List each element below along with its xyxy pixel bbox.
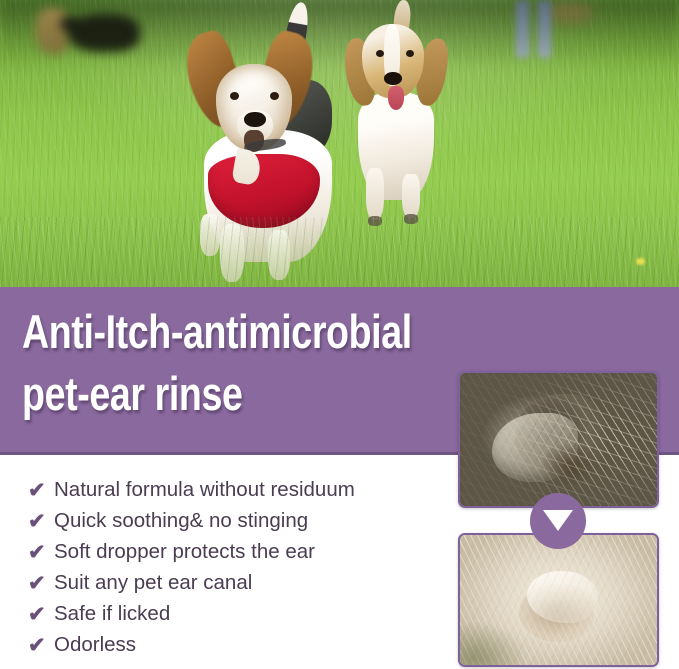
check-icon: ✔ <box>28 604 54 625</box>
rear-beagle-tongue <box>388 86 404 110</box>
check-icon: ✔ <box>28 511 54 532</box>
headline-line-2: pet-ear rinse <box>22 363 502 425</box>
rear-beagle-leg-right <box>402 174 420 218</box>
dandelion-flower <box>636 258 645 265</box>
benefits-list: ✔ Natural formula without residuum ✔ Qui… <box>0 455 460 669</box>
benefit-label: Odorless <box>54 635 136 656</box>
background-person-legs <box>516 0 558 58</box>
foreground-grass <box>0 217 679 287</box>
arrow-down-triangle <box>543 510 573 531</box>
check-icon: ✔ <box>28 542 54 563</box>
beagle-nose <box>244 112 266 127</box>
benefit-item: ✔ Suit any pet ear canal <box>28 568 252 598</box>
benefit-label: Quick soothing& no stinging <box>54 511 308 532</box>
ear-fur <box>460 373 657 506</box>
rear-beagle <box>340 4 470 244</box>
benefit-label: Soft dropper protects the ear <box>54 542 315 563</box>
benefit-item: ✔ Natural formula without residuum <box>28 475 355 505</box>
ear-photo-after <box>458 533 659 667</box>
rear-beagle-eye-right <box>406 50 414 57</box>
benefit-item: ✔ Odorless <box>28 630 136 660</box>
benefit-label: Safe if licked <box>54 604 170 625</box>
product-feature-poster: Anti-Itch-antimicrobial pet-ear rinse ✔ … <box>0 0 679 669</box>
product-headline: Anti-Itch-antimicrobial pet-ear rinse <box>22 301 502 425</box>
beagle-eye-left <box>230 92 239 100</box>
beagle-eye-right <box>270 92 279 100</box>
check-icon: ✔ <box>28 480 54 501</box>
background-dog-dark <box>68 14 140 52</box>
check-icon: ✔ <box>28 573 54 594</box>
benefit-item: ✔ Safe if licked <box>28 599 170 629</box>
rear-beagle-leg-left <box>366 168 384 220</box>
ear-before-art <box>460 373 657 506</box>
benefit-item: ✔ Soft dropper protects the ear <box>28 537 315 567</box>
benefit-item: ✔ Quick soothing& no stinging <box>28 506 308 536</box>
hero-dogs-photo <box>0 0 679 287</box>
check-icon: ✔ <box>28 635 54 656</box>
benefit-label: Natural formula without residuum <box>54 480 355 501</box>
rear-beagle-eye-left <box>376 50 384 57</box>
ear-photo-before <box>458 371 659 508</box>
rear-beagle-nose <box>384 72 402 85</box>
ear-after-art <box>460 535 657 665</box>
headline-line-1: Anti-Itch-antimicrobial <box>22 301 502 363</box>
arrow-down-icon <box>530 493 586 549</box>
benefit-label: Suit any pet ear canal <box>54 573 252 594</box>
ear-shadow-corner <box>460 621 527 665</box>
